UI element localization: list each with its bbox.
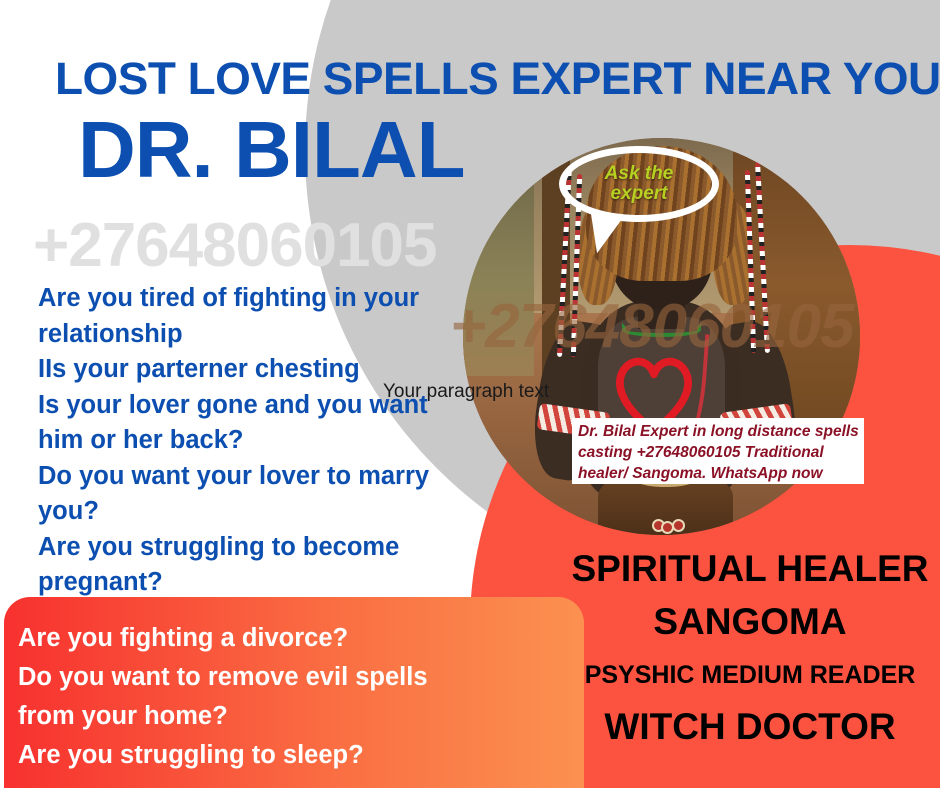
basket-decor-dot [661,521,674,534]
photo-caption-line: healer/ Sangoma. WhatsApp now [578,463,864,484]
list-item: Are you fighting a divorce? [18,619,584,658]
list-item: from your home? [18,697,584,736]
photo-caption-box: Dr. Bilal Expert in long distance spells… [572,418,864,484]
page-title: LOST LOVE SPELLS EXPERT NEAR YOU [55,53,940,105]
list-item: Are you struggling to become pregnant? [38,530,468,601]
speech-bubble-text: Ask the expert [593,164,685,204]
list-item: Are you tired of fighting in your relati… [38,281,468,352]
services-list: SPIRITUAL HEALER SANGOMA PSYSHIC MEDIUM … [560,545,940,754]
photo-caption-line: Dr. Bilal Expert in long distance spells [578,421,864,442]
service-sangoma: SANGOMA [560,593,940,651]
doctor-name: DR. BILAL [78,104,465,196]
paragraph-placeholder-text: Your paragraph text [383,381,549,403]
photo-watermark-phone: +27648060105 [450,291,870,362]
blue-question-list: Are you tired of fighting in your relati… [38,281,468,601]
service-spiritual-healer: SPIRITUAL HEALER [560,545,940,593]
list-item: Do you want to remove evil spells [18,658,584,697]
service-psychic-medium-reader: PSYSHIC MEDIUM READER [560,651,940,699]
basket-decor-dot [672,519,685,532]
list-item: Are you struggling to sleep? [18,736,584,775]
speech-bubble: Ask the expert [559,146,719,222]
service-witch-doctor: WITCH DOCTOR [560,699,940,754]
flyer-canvas: Ask the expert +27648060105 Dr. Bilal Ex… [0,0,940,788]
photo-caption-line: casting +27648060105 Traditional [578,442,864,463]
list-item: Do you want your lover to marry you? [38,459,468,530]
phone-number-large: +27648060105 [33,210,437,281]
orange-question-card: Are you fighting a divorce? Do you want … [4,597,584,788]
